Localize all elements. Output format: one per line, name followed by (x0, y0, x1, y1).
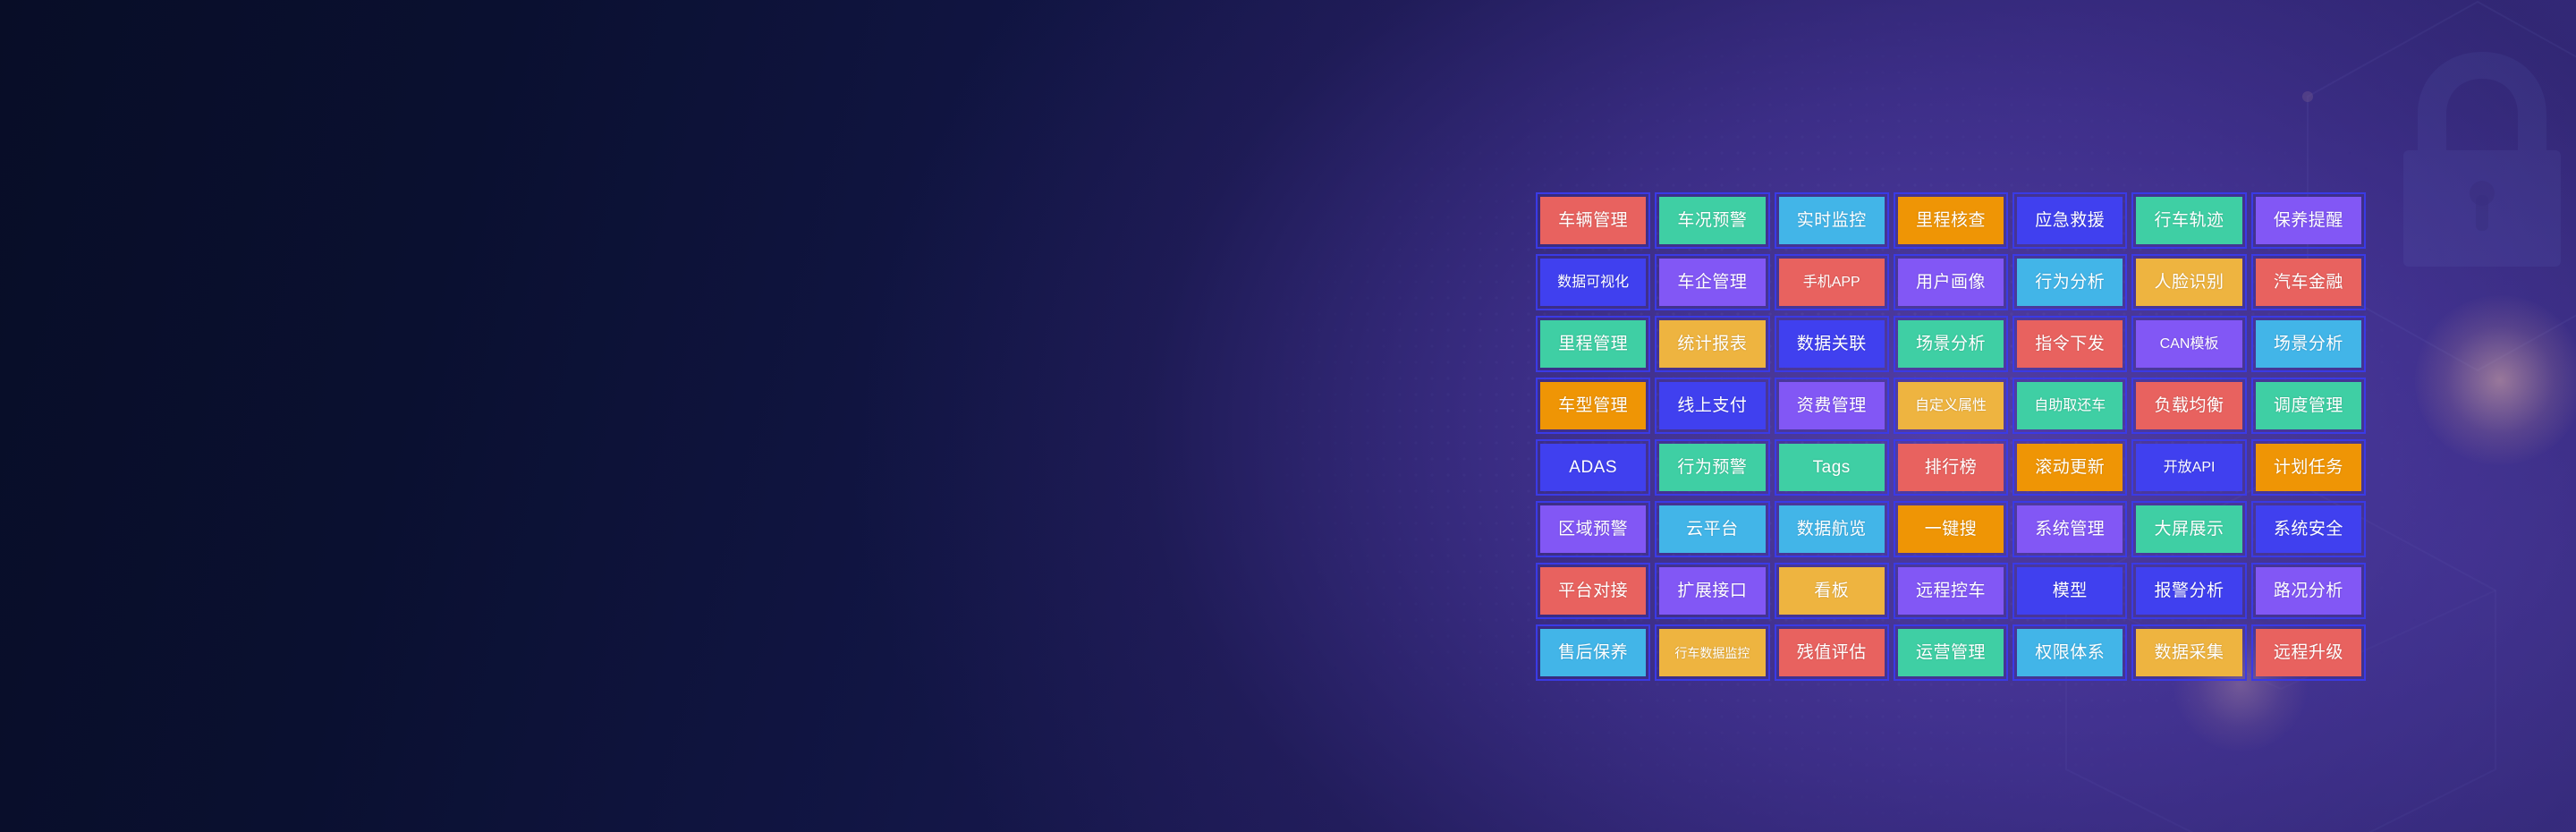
feature-tile-label: 场景分析 (1898, 320, 2004, 368)
feature-tile-label: 负载均衡 (2136, 382, 2241, 429)
feature-tile[interactable]: 自定义属性 (1894, 378, 2008, 434)
feature-tile-label: 大屏展示 (2136, 505, 2241, 553)
feature-tile[interactable]: 自助取还车 (2012, 378, 2127, 434)
feature-tile[interactable]: 区域预警 (1536, 501, 1650, 557)
feature-tile-label: 滚动更新 (2017, 444, 2123, 491)
feature-tile[interactable]: 场景分析 (1894, 316, 2008, 372)
feature-tile-label: 调度管理 (2256, 382, 2361, 429)
feature-tile[interactable]: 售后保养 (1536, 624, 1650, 681)
feature-tile[interactable]: 运营管理 (1894, 624, 2008, 681)
feature-tile[interactable]: 车况预警 (1655, 192, 1769, 249)
feature-tile-label: 应急救援 (2017, 197, 2123, 244)
feature-tile-label: 指令下发 (2017, 320, 2123, 368)
feature-tile[interactable]: 用户画像 (1894, 254, 2008, 310)
feature-tile-label: 资费管理 (1779, 382, 1885, 429)
feature-tile-label: 排行榜 (1898, 444, 2004, 491)
feature-tile-label: 一键搜 (1898, 505, 2004, 553)
feature-tile[interactable]: 线上支付 (1655, 378, 1769, 434)
feature-tile-label: 扩展接口 (1659, 567, 1765, 615)
feature-tile[interactable]: 应急救援 (2012, 192, 2127, 249)
feature-tile[interactable]: 数据航览 (1775, 501, 1889, 557)
feature-tile-label: 行为分析 (2017, 259, 2123, 306)
feature-tile-label: 保养提醒 (2256, 197, 2361, 244)
feature-tile-label: 自定义属性 (1898, 382, 2004, 429)
feature-tile[interactable]: 车辆管理 (1536, 192, 1650, 249)
feature-tile[interactable]: 残值评估 (1775, 624, 1889, 681)
feature-tile[interactable]: 保养提醒 (2251, 192, 2366, 249)
feature-tile[interactable]: CAN模板 (2131, 316, 2246, 372)
feature-tile[interactable]: 行车数据监控 (1655, 624, 1769, 681)
feature-tile[interactable]: 行车轨迹 (2131, 192, 2246, 249)
feature-tile-label: 区域预警 (1540, 505, 1646, 553)
feature-tile[interactable]: 行为分析 (2012, 254, 2127, 310)
feature-tile[interactable]: 滚动更新 (2012, 439, 2127, 496)
feature-tile[interactable]: 负载均衡 (2131, 378, 2246, 434)
feature-tile[interactable]: 实时监控 (1775, 192, 1889, 249)
feature-tile[interactable]: 系统安全 (2251, 501, 2366, 557)
feature-tile-label: 售后保养 (1540, 629, 1646, 676)
feature-tile[interactable]: 系统管理 (2012, 501, 2127, 557)
feature-tile-label: ADAS (1540, 444, 1646, 491)
feature-tile[interactable]: 场景分析 (2251, 316, 2366, 372)
feature-tile-label: 人脸识别 (2136, 259, 2241, 306)
feature-tile[interactable]: 远程控车 (1894, 563, 2008, 619)
feature-tile-label: 看板 (1779, 567, 1885, 615)
feature-tile-label: 远程升级 (2256, 629, 2361, 676)
feature-tile[interactable]: 数据关联 (1775, 316, 1889, 372)
feature-tile[interactable]: 计划任务 (2251, 439, 2366, 496)
feature-tile-label: 用户画像 (1898, 259, 2004, 306)
feature-tile-label: 里程管理 (1540, 320, 1646, 368)
feature-tile-label: 数据关联 (1779, 320, 1885, 368)
feature-tile[interactable]: 统计报表 (1655, 316, 1769, 372)
feature-tile[interactable]: 看板 (1775, 563, 1889, 619)
feature-tile-label: 里程核查 (1898, 197, 2004, 244)
lock-watermark-icon (2348, 16, 2576, 302)
feature-tile[interactable]: 指令下发 (2012, 316, 2127, 372)
feature-tile[interactable]: 云平台 (1655, 501, 1769, 557)
feature-tile-label: 残值评估 (1779, 629, 1885, 676)
feature-tile[interactable]: 手机APP (1775, 254, 1889, 310)
feature-tile-label: 行为预警 (1659, 444, 1765, 491)
feature-tile-label: 模型 (2017, 567, 2123, 615)
feature-tile[interactable]: 报警分析 (2131, 563, 2246, 619)
feature-tile-label: 场景分析 (2256, 320, 2361, 368)
page-background: 车辆管理车况预警实时监控里程核查应急救援行车轨迹保养提醒数据可视化车企管理手机A… (0, 0, 2576, 832)
feature-tile[interactable]: 数据采集 (2131, 624, 2246, 681)
feature-tile-label: 行车轨迹 (2136, 197, 2241, 244)
feature-tile-label: 行车数据监控 (1659, 629, 1765, 676)
feature-tile[interactable]: 数据可视化 (1536, 254, 1650, 310)
feature-tile-label: 平台对接 (1540, 567, 1646, 615)
feature-tile[interactable]: 一键搜 (1894, 501, 2008, 557)
feature-tile[interactable]: 远程升级 (2251, 624, 2366, 681)
feature-tile-label: CAN模板 (2136, 320, 2241, 368)
feature-tile-label: 报警分析 (2136, 567, 2241, 615)
feature-tile-label: 汽车金融 (2256, 259, 2361, 306)
feature-tile[interactable]: 调度管理 (2251, 378, 2366, 434)
feature-tile-label: Tags (1779, 444, 1885, 491)
feature-tile[interactable]: 开放API (2131, 439, 2246, 496)
feature-tile[interactable]: 权限体系 (2012, 624, 2127, 681)
feature-tile[interactable]: 大屏展示 (2131, 501, 2246, 557)
feature-tile-label: 自助取还车 (2017, 382, 2123, 429)
feature-tile[interactable]: Tags (1775, 439, 1889, 496)
feature-tile-grid: 车辆管理车况预警实时监控里程核查应急救援行车轨迹保养提醒数据可视化车企管理手机A… (1536, 192, 2366, 681)
feature-tile-label: 运营管理 (1898, 629, 2004, 676)
feature-tile-label: 车企管理 (1659, 259, 1765, 306)
feature-tile[interactable]: 里程核查 (1894, 192, 2008, 249)
feature-tile-label: 开放API (2136, 444, 2241, 491)
feature-tile[interactable]: 模型 (2012, 563, 2127, 619)
feature-tile-label: 手机APP (1779, 259, 1885, 306)
feature-tile[interactable]: 扩展接口 (1655, 563, 1769, 619)
feature-tile-label: 数据采集 (2136, 629, 2241, 676)
feature-tile-label: 远程控车 (1898, 567, 2004, 615)
feature-tile[interactable]: 人脸识别 (2131, 254, 2246, 310)
feature-tile-label: 数据航览 (1779, 505, 1885, 553)
feature-tile[interactable]: 汽车金融 (2251, 254, 2366, 310)
feature-tile[interactable]: 平台对接 (1536, 563, 1650, 619)
feature-tile[interactable]: 里程管理 (1536, 316, 1650, 372)
feature-tile-label: 计划任务 (2256, 444, 2361, 491)
feature-tile-label: 车况预警 (1659, 197, 1765, 244)
feature-tile-label: 路况分析 (2256, 567, 2361, 615)
feature-tile[interactable]: 行为预警 (1655, 439, 1769, 496)
feature-tile-label: 系统管理 (2017, 505, 2123, 553)
feature-tile-label: 权限体系 (2017, 629, 2123, 676)
feature-tile-label: 车型管理 (1540, 382, 1646, 429)
feature-tile[interactable]: ADAS (1536, 439, 1650, 496)
feature-tile[interactable]: 路况分析 (2251, 563, 2366, 619)
feature-tile-label: 统计报表 (1659, 320, 1765, 368)
feature-tile-label: 数据可视化 (1540, 259, 1646, 306)
feature-tile-label: 车辆管理 (1540, 197, 1646, 244)
feature-tile[interactable]: 资费管理 (1775, 378, 1889, 434)
feature-tile-label: 云平台 (1659, 505, 1765, 553)
feature-tile[interactable]: 车型管理 (1536, 378, 1650, 434)
feature-tile-label: 实时监控 (1779, 197, 1885, 244)
feature-tile[interactable]: 排行榜 (1894, 439, 2008, 496)
lens-flare (2415, 295, 2576, 465)
feature-tile[interactable]: 车企管理 (1655, 254, 1769, 310)
feature-tile-label: 线上支付 (1659, 382, 1765, 429)
feature-tile-label: 系统安全 (2256, 505, 2361, 553)
